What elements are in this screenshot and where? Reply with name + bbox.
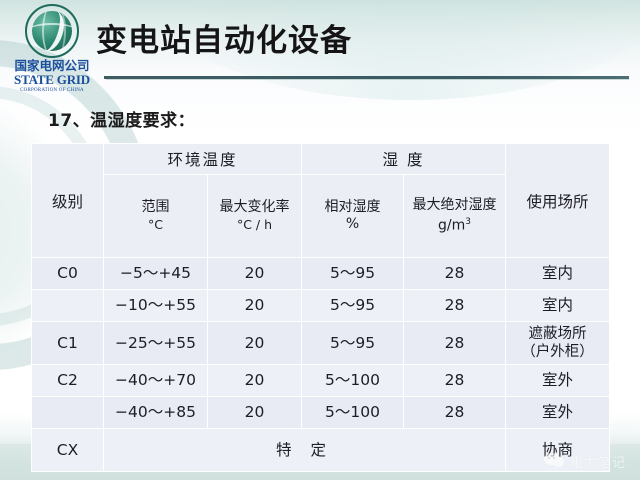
spec-table-wrapper: 级别 环境温度 湿 度 使用场所 范围 °C 最大变化率 °C / h [31,143,609,472]
title-divider-shadow [106,79,629,80]
cell-rank [32,290,104,322]
cell-max-absolute: 28 [404,258,506,290]
cell-place: 遮蔽场所 （户外柜） [506,322,610,365]
header-relative-humidity-label: 相对湿度 [304,199,401,216]
cell-max-rate: 20 [208,397,302,429]
cell-max-absolute: 28 [404,322,506,365]
header-range-unit: °C [106,216,205,233]
header-relative-humidity-unit: % [304,216,401,233]
cell-max-rate: 20 [208,365,302,397]
cell-relative-humidity: 5～95 [302,322,404,365]
cell-specified: 特 定 [104,429,506,472]
cell-rank: C2 [32,365,104,397]
cell-relative-humidity: 5～95 [302,290,404,322]
table-row: −10～+55 20 5～95 28 室内 [32,290,610,322]
cell-max-rate: 20 [208,258,302,290]
cell-range: −40～+70 [104,365,208,397]
wechat-dot-right [553,457,555,459]
wechat-dot-left [548,457,550,459]
cell-place: 室外 [506,365,610,397]
cell-max-rate: 20 [208,290,302,322]
cell-rank: C1 [32,322,104,365]
table-row: C0 −5～+45 20 5～95 28 室内 [32,258,610,290]
slide-header: 国家电网公司 STATE GRID CORPORATION OF CHINA 变… [0,0,640,96]
logo-name-sub: CORPORATION OF CHINA [6,87,98,94]
temperature-humidity-table: 级别 环境温度 湿 度 使用场所 范围 °C 最大变化率 °C / h [31,143,610,472]
cell-relative-humidity: 5～100 [302,365,404,397]
header-max-absolute-humidity: 最大绝对湿度g/m3 [404,175,506,258]
slide-canvas: 国家电网公司 STATE GRID CORPORATION OF CHINA 变… [0,0,640,480]
cell-max-absolute: 28 [404,365,506,397]
page-title: 变电站自动化设备 [96,22,352,60]
cell-place: 室内 [506,290,610,322]
cell-max-rate: 20 [208,322,302,365]
wechat-watermark: 电力笔记 [544,452,626,471]
header-place: 使用场所 [506,144,610,258]
header-max-rate-label: 最大变化率 [210,199,299,216]
table-header-row-group: 级别 环境温度 湿 度 使用场所 [32,144,610,175]
cell-range: −10～+55 [104,290,208,322]
header-range-label: 范围 [106,199,205,216]
logo-name-en: STATE GRID [6,73,98,87]
wechat-icon [544,453,565,470]
cell-range: −40～+85 [104,397,208,429]
header-max-rate: 最大变化率 °C / h [208,175,302,258]
table-row: −40～+85 20 5～100 28 室外 [32,397,610,429]
cell-place: 室外 [506,397,610,429]
state-grid-logo: 国家电网公司 STATE GRID CORPORATION OF CHINA [6,4,98,94]
cell-range: −5～+45 [104,258,208,290]
section-heading: 17、温湿度要求： [48,106,195,131]
cell-relative-humidity: 5～100 [302,397,404,429]
header-max-absolute-label: 最大绝对湿度g/m [413,197,497,234]
header-max-absolute-sup: 3 [465,217,471,227]
header-relative-humidity: 相对湿度 % [302,175,404,258]
cell-rank: C0 [32,258,104,290]
table-row: C1 −25～+55 20 5～95 28 遮蔽场所 （户外柜） [32,322,610,365]
watermark-text: 电力笔记 [570,452,626,471]
cell-rank [32,397,104,429]
header-ambient-temperature: 环境温度 [104,144,302,175]
cell-range: −25～+55 [104,322,208,365]
cell-max-absolute: 28 [404,290,506,322]
table-row: C2 −40～+70 20 5～100 28 室外 [32,365,610,397]
header-rank: 级别 [32,144,104,258]
cell-place: 室内 [506,258,610,290]
cell-max-absolute: 28 [404,397,506,429]
cell-relative-humidity: 5～95 [302,258,404,290]
table-row-last: CX 特 定 协商 [32,429,610,472]
state-grid-globe-icon [25,4,79,58]
cell-rank: CX [32,429,104,472]
header-humidity: 湿 度 [302,144,506,175]
logo-name-cn: 国家电网公司 [6,59,98,73]
header-range: 范围 °C [104,175,208,258]
header-max-rate-unit: °C / h [210,216,299,233]
